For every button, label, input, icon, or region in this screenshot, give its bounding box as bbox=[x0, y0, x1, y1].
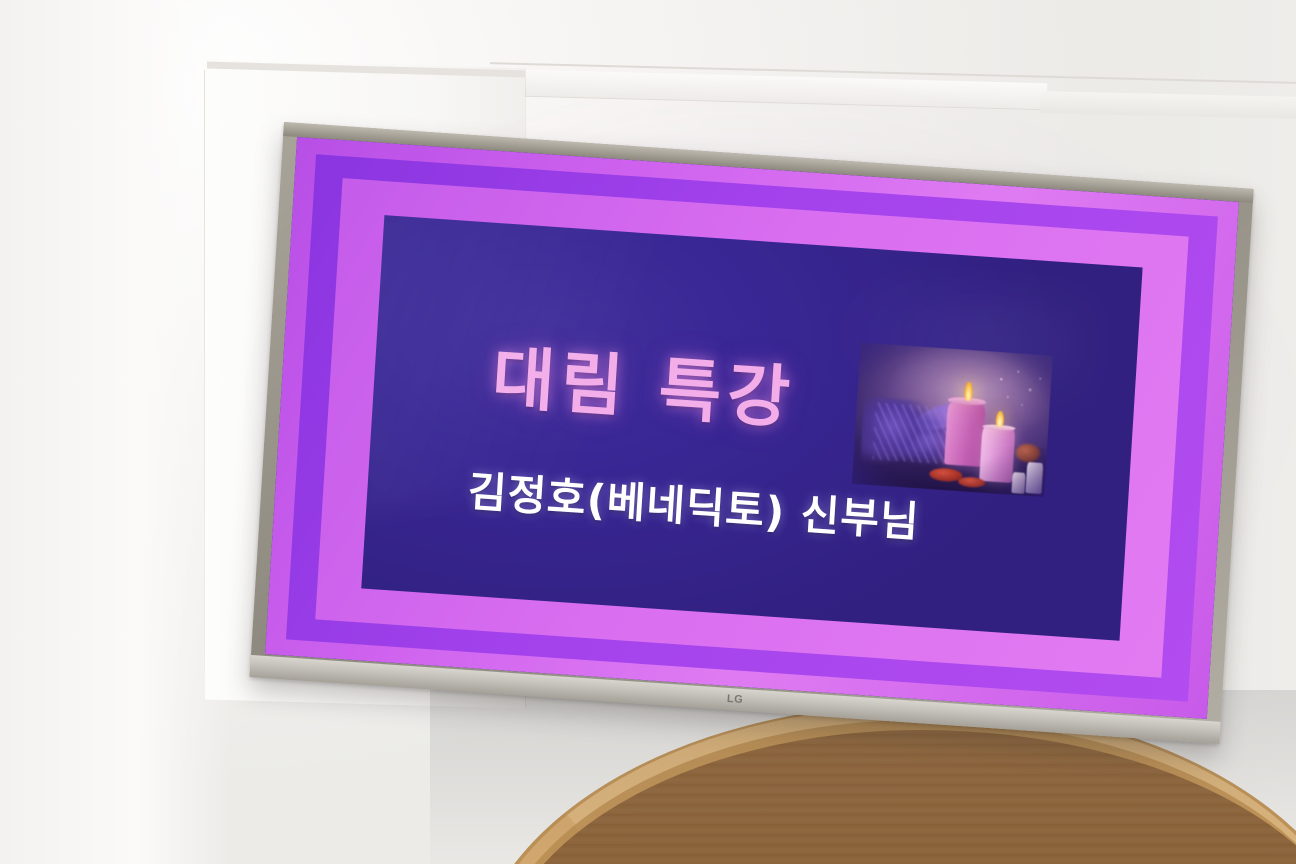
image-candle-large bbox=[944, 402, 987, 467]
slide-border-middle: 대림 특강 김정호(베네딕토) 신부님 bbox=[286, 154, 1218, 701]
slide-title: 대림 특강 bbox=[441, 339, 847, 438]
image-candle-small-front bbox=[1012, 472, 1026, 494]
image-sparkles bbox=[988, 362, 1049, 420]
slide-border-inner: 대림 특강 김정호(베네딕토) 신부님 bbox=[315, 178, 1188, 678]
image-candle-small-right bbox=[1025, 462, 1042, 494]
lg-logo: LG bbox=[727, 693, 744, 706]
slide-image-candles bbox=[851, 342, 1053, 497]
image-stone-back bbox=[1016, 444, 1040, 463]
wall-shade-left bbox=[0, 0, 230, 864]
slide-canvas: 대림 특강 김정호(베네딕토) 신부님 bbox=[361, 215, 1142, 641]
television: 대림 특강 김정호(베네딕토) 신부님 bbox=[250, 122, 1254, 744]
tv-screen: 대림 특강 김정호(베네딕토) 신부님 bbox=[265, 137, 1239, 719]
slide-border-outer: 대림 특강 김정호(베네딕토) 신부님 bbox=[265, 137, 1239, 719]
image-candle-medium bbox=[980, 427, 1016, 483]
scene-root: 대림 특강 김정호(베네딕토) 신부님 bbox=[0, 0, 1296, 864]
